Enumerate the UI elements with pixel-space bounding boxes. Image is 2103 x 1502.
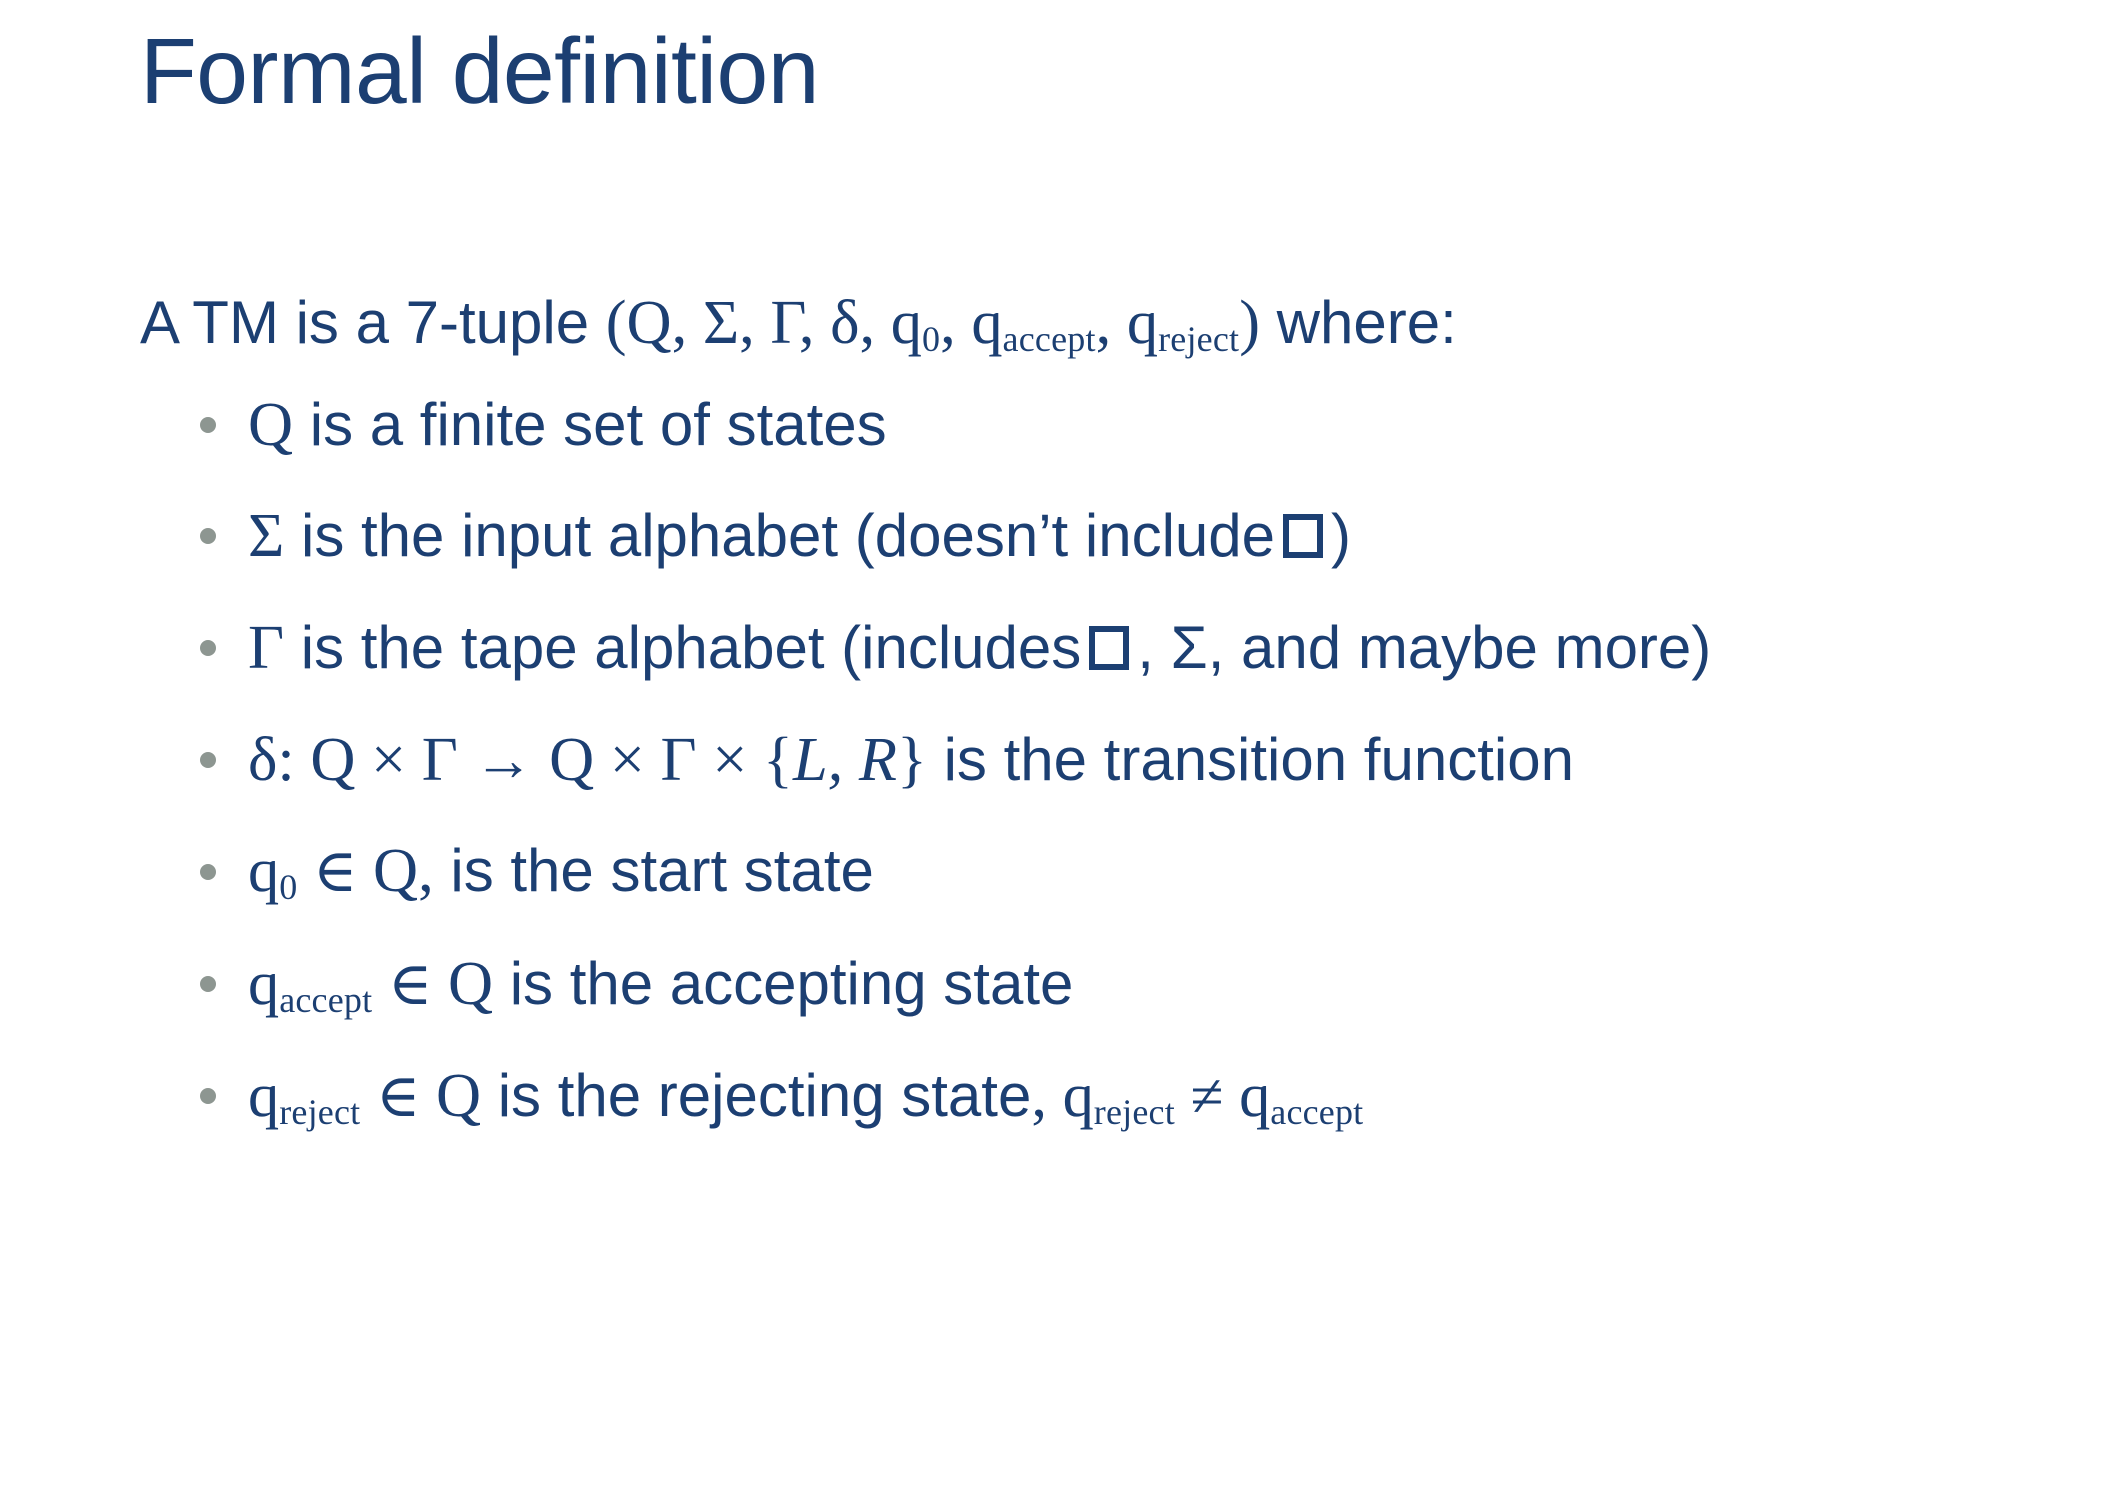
- tape-alphabet-text-before: is the tape alphabet (includes: [284, 614, 1081, 681]
- constraint-right-subscript: accept: [1270, 1092, 1363, 1132]
- tuple-item-qreject: q: [1127, 288, 1158, 357]
- symbol-gamma: Γ: [248, 613, 284, 682]
- symbol-q0-subscript: 0: [279, 867, 297, 907]
- slide-body: A TM is a 7-tuple (Q, Σ, Γ, δ, q0, qacce…: [140, 285, 2020, 1133]
- tuple-close-paren: ): [1239, 288, 1260, 357]
- bullet-dot-icon: [200, 976, 216, 992]
- bullet-dot-icon: [200, 1088, 216, 1104]
- direction-right: R: [859, 725, 897, 794]
- accept-state-text: is the accepting state: [493, 950, 1073, 1017]
- tuple-open-paren: (: [606, 288, 627, 357]
- tuple-item-gamma: Γ: [770, 288, 799, 357]
- direction-left: L: [793, 725, 828, 794]
- slide: Formal definition A TM is a 7-tuple (Q, …: [0, 0, 2103, 1502]
- bullet-dot-icon: [200, 417, 216, 433]
- transition-colon: :: [277, 725, 294, 794]
- states-text: is a finite set of states: [293, 391, 887, 458]
- tuple-item-q0: q: [891, 288, 922, 357]
- symbol-q0: q: [248, 836, 279, 905]
- list-item-input-alphabet: Σ is the input alphabet (doesn’t include…: [200, 499, 2020, 573]
- symbol-delta: δ: [248, 725, 277, 794]
- start-state-text: is the start state: [434, 837, 874, 904]
- bullet-dot-icon: [200, 752, 216, 768]
- list-item-reject-state: qreject ∈ Q is the rejecting state, qrej…: [200, 1059, 2020, 1133]
- blank-symbol-icon: [1089, 626, 1129, 670]
- transition-function-text: is the transition function: [927, 726, 1574, 793]
- symbol-qaccept-subscript: accept: [279, 980, 372, 1020]
- tuple-item-q0-subscript: 0: [922, 319, 940, 359]
- list-item-transition-function: δ: Q × Γ → Q × Γ × {L, R} is the transit…: [200, 723, 2020, 797]
- input-alphabet-text-before: is the input alphabet (doesn’t include: [284, 502, 1275, 569]
- accept-state-set: Q: [448, 949, 493, 1018]
- tape-alphabet-text-after: , Σ, and maybe more): [1137, 614, 1711, 681]
- constraint-left-symbol: q: [1063, 1061, 1094, 1130]
- element-of-icon: ∈: [376, 1063, 420, 1129]
- list-item-tape-alphabet: Γ is the tape alphabet (includes, Σ, and…: [200, 611, 2020, 685]
- symbol-qaccept: q: [248, 949, 279, 1018]
- input-alphabet-text-after: ): [1331, 502, 1351, 569]
- constraint-left-subscript: reject: [1094, 1092, 1175, 1132]
- tuple-item-q: Q: [627, 288, 672, 357]
- blank-symbol-icon: [1283, 514, 1323, 558]
- lead-prefix: A TM is a 7-tuple: [140, 289, 606, 356]
- page-title: Formal definition: [140, 20, 819, 122]
- tuple-item-qreject-subscript: reject: [1158, 319, 1239, 359]
- arrow-right-icon: →: [473, 727, 533, 793]
- symbol-qreject: q: [248, 1061, 279, 1130]
- lead-suffix: where:: [1260, 289, 1457, 356]
- element-of-icon: ∈: [313, 838, 357, 904]
- bullet-dot-icon: [200, 640, 216, 656]
- definition-lead-line: A TM is a 7-tuple (Q, Σ, Γ, δ, q0, qacce…: [140, 285, 2020, 362]
- bullet-dot-icon: [200, 528, 216, 544]
- symbol-qreject-subscript: reject: [279, 1092, 360, 1132]
- tuple-item-qaccept: q: [971, 288, 1002, 357]
- symbol-sigma: Σ: [248, 501, 284, 570]
- bullet-dot-icon: [200, 864, 216, 880]
- tuple-item-qaccept-subscript: accept: [1003, 319, 1096, 359]
- element-of-icon: ∈: [388, 951, 432, 1017]
- list-item-start-state: q0 ∈ Q, is the start state: [200, 834, 2020, 908]
- reject-state-text: is the rejecting state: [481, 1062, 1031, 1129]
- tuple-item-sigma: Σ: [703, 288, 739, 357]
- transition-domain: Q × Γ: [310, 725, 458, 794]
- list-item-accept-state: qaccept ∈ Q is the accepting state: [200, 947, 2020, 1021]
- reject-state-set: Q: [436, 1061, 481, 1130]
- not-equal-icon: ≠: [1191, 1063, 1224, 1129]
- definition-bullet-list: Q is a finite set of states Σ is the inp…: [140, 388, 2020, 1134]
- tuple-item-delta: δ: [830, 288, 859, 357]
- constraint-right-symbol: q: [1239, 1061, 1270, 1130]
- symbol-q: Q: [248, 390, 293, 459]
- start-state-set: Q,: [373, 836, 434, 905]
- list-item-states: Q is a finite set of states: [200, 388, 2020, 462]
- transition-codomain-prefix: Q × Γ × {: [549, 725, 793, 794]
- reject-state-comma: ,: [1031, 1061, 1047, 1130]
